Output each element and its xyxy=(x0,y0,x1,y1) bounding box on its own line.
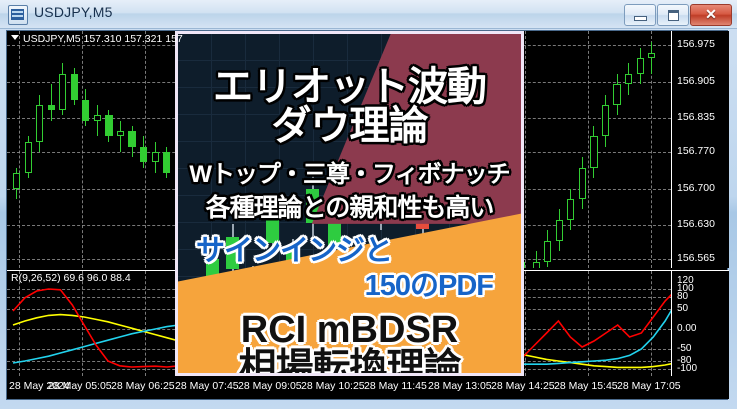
overlay-line-pdf: 150のPDF xyxy=(178,272,521,301)
candlestick xyxy=(128,31,135,268)
price-axis-label: 156.770 xyxy=(677,145,715,157)
candlestick xyxy=(94,31,101,268)
time-axis: 28 May 202428 May 05:0528 May 06:2528 Ma… xyxy=(7,376,729,399)
overlay-line-affinity: 各種理論との親和性も高い xyxy=(178,196,521,221)
candlestick xyxy=(590,31,597,268)
candlestick xyxy=(648,31,655,268)
time-axis-label: 28 May 09:05 xyxy=(238,380,302,392)
window-titlebar: USDJPY,M5 ✕ xyxy=(0,0,737,29)
time-axis-label: 28 May 07:45 xyxy=(175,380,239,392)
promo-overlay: エリオット波動 ダウ理論 Wトップ・三尊・フィボナッチ 各種理論との親和性も高い… xyxy=(175,31,524,376)
time-axis-label: 28 May 15:45 xyxy=(554,380,618,392)
indicator-axis: 12010080500.00-50-80-100 xyxy=(671,271,729,376)
overlay-line-tenkan: 相場転換理論 xyxy=(178,349,521,376)
candlestick xyxy=(36,31,43,268)
candlestick xyxy=(117,31,124,268)
candlestick xyxy=(59,31,66,268)
candlestick xyxy=(602,31,609,268)
candlestick xyxy=(579,31,586,268)
candlestick xyxy=(71,31,78,268)
candlestick xyxy=(152,31,159,268)
maximize-button[interactable] xyxy=(657,4,689,26)
metatrader-chart-icon xyxy=(8,5,28,25)
close-button[interactable]: ✕ xyxy=(690,4,732,26)
candlestick xyxy=(140,31,147,268)
overlay-line-sign: サインインジと xyxy=(178,237,521,266)
candlestick xyxy=(544,31,551,268)
candlestick xyxy=(163,31,170,268)
time-axis-label: 28 May 13:05 xyxy=(428,380,492,392)
overlay-title-dow: ダウ理論 xyxy=(178,106,521,146)
price-axis-label: 156.630 xyxy=(677,218,715,230)
price-axis-label: 156.565 xyxy=(677,252,715,264)
time-axis-label: 28 May 11:45 xyxy=(364,380,427,392)
price-axis-label: 156.905 xyxy=(677,75,715,87)
overlay-line-wtop: Wトップ・三尊・フィボナッチ xyxy=(178,163,521,187)
indicator-axis-label: -50 xyxy=(677,343,691,354)
indicator-label: R(9,26,52) 69.6 96.0 88.4 xyxy=(11,272,131,284)
indicator-axis-label: 50 xyxy=(677,303,688,314)
indicator-axis-label: 0.00 xyxy=(677,323,696,334)
minimize-button[interactable] xyxy=(624,4,656,26)
indicator-axis-label: -100 xyxy=(677,363,697,374)
close-icon: ✕ xyxy=(691,6,731,23)
time-axis-label: 28 May 14:25 xyxy=(491,380,555,392)
candlestick xyxy=(567,31,574,268)
chart-symbol-label: USDJPY,M5 157.310 157.321 157 xyxy=(11,33,183,45)
candlestick xyxy=(25,31,32,268)
price-axis-label: 156.700 xyxy=(677,182,715,194)
overlay-line-rci: RCI mBDSR xyxy=(178,311,521,349)
price-axis: 156.975156.905156.835156.770156.700156.6… xyxy=(671,31,729,268)
time-axis-label: 28 May 10:25 xyxy=(301,380,365,392)
candlestick xyxy=(625,31,632,268)
time-axis-label: 28 May 06:25 xyxy=(111,380,175,392)
candlestick xyxy=(105,31,112,268)
indicator-axis-label: 80 xyxy=(677,291,688,302)
mt4-window: USDJPY,M5 ✕ USDJPY,M5 157.310 157.321 15… xyxy=(0,0,737,409)
overlay-title-elliott: エリオット波動 xyxy=(178,67,521,107)
time-axis-label: 28 May 17:05 xyxy=(617,380,681,392)
candlestick xyxy=(48,31,55,268)
candlestick xyxy=(13,31,20,268)
candlestick xyxy=(613,31,620,268)
time-axis-label: 28 May 05:05 xyxy=(48,380,112,392)
candlestick xyxy=(533,31,540,268)
candlestick xyxy=(637,31,644,268)
candlestick xyxy=(556,31,563,268)
chevron-down-icon[interactable] xyxy=(11,35,19,40)
candlestick xyxy=(82,31,89,268)
price-axis-label: 156.835 xyxy=(677,111,715,123)
window-title: USDJPY,M5 xyxy=(34,4,113,20)
price-axis-label: 156.975 xyxy=(677,38,715,50)
